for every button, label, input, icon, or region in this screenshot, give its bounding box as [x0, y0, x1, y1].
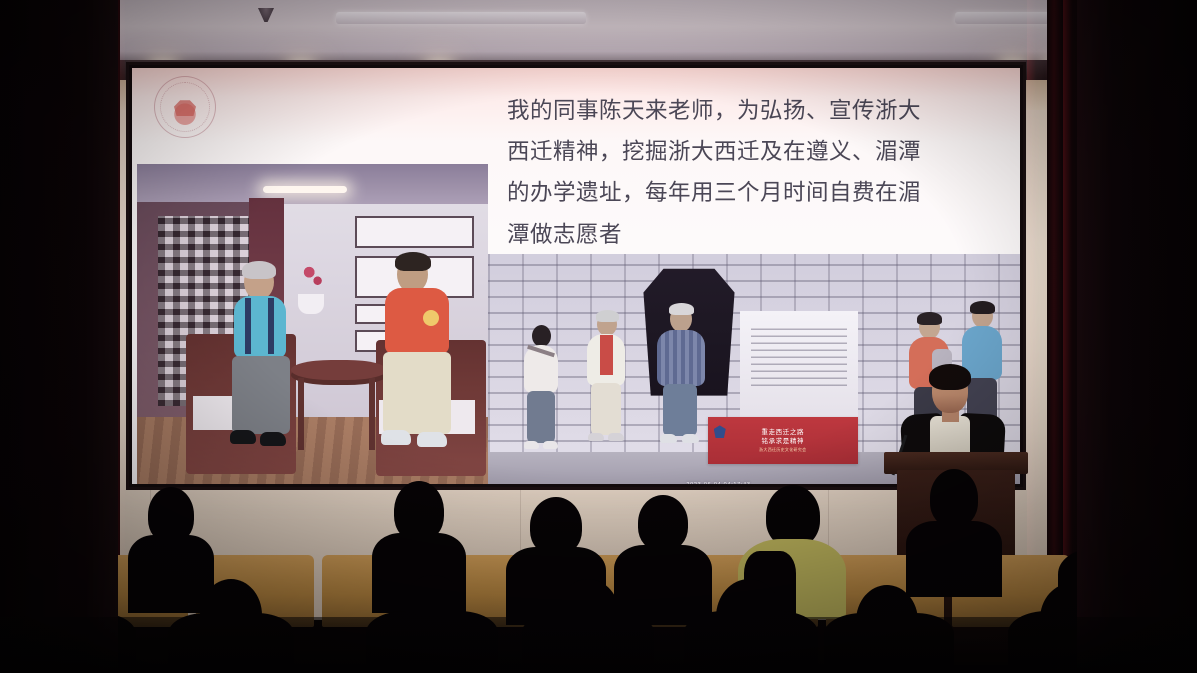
person-3-shoe-2 [682, 434, 699, 443]
group-person-3 [654, 306, 710, 484]
person-3-striped-shirt [657, 330, 705, 386]
person-1-trousers [527, 391, 555, 443]
ceiling [0, 0, 1197, 66]
person-left-blue-shirt [234, 296, 286, 358]
projection-screen: 我的同事陈天来老师，为弘扬、宣传浙大 西迁精神，挖掘浙大西迁及在遵义、湄潭 的办… [126, 62, 1026, 490]
lecture-hall-scene: 我的同事陈天来老师，为弘扬、宣传浙大 西迁精神，挖掘浙大西迁及在遵义、湄潭 的办… [0, 0, 1197, 673]
studio-round-table [291, 360, 387, 380]
person-left-strap-1 [245, 298, 251, 354]
banner-line-2: 铭承求是精神 [761, 437, 804, 446]
university-seal-logo [154, 76, 216, 138]
left-wall-shadow [0, 0, 118, 673]
group-person-1 [520, 325, 566, 484]
red-commemorative-banner: 重走西迁之路 铭承求是精神 浙大西迁历史文化研究会 [708, 417, 858, 464]
person-right-hair [395, 252, 431, 271]
person-2-shoe-2 [608, 433, 624, 441]
person-3-jeans [663, 384, 697, 436]
interview-person-left [228, 264, 304, 474]
right-wall-shadow [1077, 0, 1197, 673]
person-2-red-top [600, 335, 613, 375]
audience-head-6 [930, 469, 978, 527]
person-right-trousers [383, 352, 451, 434]
person-3-shoe-1 [660, 434, 677, 443]
person-2-trousers [591, 383, 621, 435]
shield-emblem [714, 425, 726, 438]
person-3-hair [669, 303, 694, 315]
audience-body-6 [906, 521, 1002, 597]
audience-head-4 [638, 495, 688, 551]
person-left-shoe-2 [260, 432, 286, 446]
person-right-shoe-1 [381, 430, 411, 445]
person-left-shoe-1 [230, 430, 256, 444]
screen-surface: 我的同事陈天来老师，为弘扬、宣传浙大 西迁精神，挖掘浙大西迁及在遵义、湄潭 的办… [132, 68, 1020, 484]
person-right-shirt-logo [423, 310, 439, 326]
person-right-orange-shirt [385, 288, 449, 354]
banner-subline: 浙大西迁历史文化研究会 [759, 447, 806, 453]
person-right-shoe-2 [417, 432, 447, 447]
person-left-hair [242, 261, 276, 279]
person-2-shoe-1 [588, 433, 604, 441]
stele-inscription [751, 325, 847, 386]
ceiling-linear-light-1 [336, 12, 586, 24]
studio-ceiling-light [263, 186, 347, 193]
presenter-hair [929, 364, 971, 390]
person-1-shoe-1 [524, 441, 539, 449]
studio-wall-frame-1 [355, 216, 474, 248]
studio-interview-photo [137, 164, 488, 484]
slide-body-text: 我的同事陈天来老师，为弘扬、宣传浙大 西迁精神，挖掘浙大西迁及在遵义、湄潭 的办… [507, 90, 998, 255]
person-left-strap-2 [268, 298, 274, 354]
group-person-2 [584, 313, 632, 483]
audience-head-2 [394, 481, 444, 541]
foreground-shadow [0, 617, 1197, 673]
banner-line-1: 重走西迁之路 [761, 428, 804, 437]
person-2-hair [596, 310, 619, 322]
presentation-slide: 我的同事陈天来老师，为弘扬、宣传浙大 西迁精神，挖掘浙大西迁及在遵义、湄潭 的办… [132, 68, 1020, 484]
audience-head-5 [766, 485, 820, 547]
person-4-hair [917, 312, 942, 325]
person-1-head [532, 325, 551, 347]
person-left-trousers [232, 356, 290, 434]
photo-timestamp: 2023-06-04 04:17:43 [686, 482, 750, 484]
studio-table-leg-2 [369, 378, 375, 450]
person-1-shoe-2 [543, 441, 558, 449]
interview-person-right [383, 256, 467, 476]
person-5-hair [970, 301, 995, 314]
